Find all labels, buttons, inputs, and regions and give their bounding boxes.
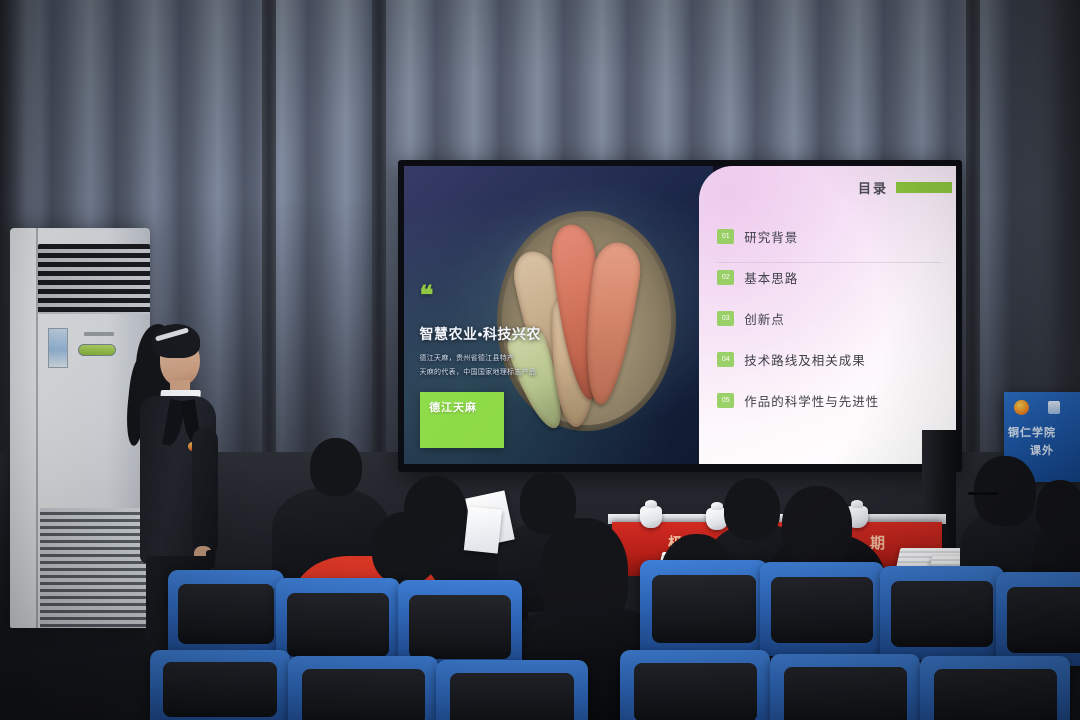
secondary-logo-icon bbox=[1048, 401, 1060, 414]
presenter-hair-front bbox=[152, 324, 200, 358]
toc-number-badge: 04 bbox=[717, 352, 734, 367]
toc-item-4: 04 技术路线及相关成果 bbox=[717, 341, 945, 377]
slide-photo-panel: ❝ 智慧农业•科技兴农 德江天麻，贵州省德江县特产 天麻的代表，中国国家地理标志… bbox=[404, 166, 713, 464]
toc-number-badge: 03 bbox=[717, 311, 734, 326]
audience-chair-front[interactable] bbox=[920, 656, 1070, 720]
audience-chair-front[interactable] bbox=[150, 650, 290, 720]
slide-heading: 智慧农业•科技兴农 bbox=[419, 324, 540, 344]
audience-chair-front[interactable] bbox=[620, 650, 770, 720]
university-emblem-icon bbox=[1014, 400, 1029, 415]
audience-head bbox=[974, 456, 1036, 526]
toc-number-badge: 01 bbox=[717, 229, 734, 244]
toc-item-label: 技术路线及相关成果 bbox=[744, 350, 866, 369]
toc-title: 目录 bbox=[858, 178, 888, 197]
ac-display-screen bbox=[78, 344, 116, 356]
audience-chair-front[interactable] bbox=[436, 660, 588, 720]
presentation-display: ❝ 智慧农业•科技兴农 德江天麻，贵州省德江县特产 天麻的代表，中国国家地理标志… bbox=[398, 160, 962, 472]
audience-chair[interactable] bbox=[640, 560, 768, 656]
handout-paper bbox=[464, 506, 502, 553]
toc-item-label: 基本思路 bbox=[744, 268, 798, 287]
audience-chair[interactable] bbox=[880, 566, 1004, 660]
audience-chair-front[interactable] bbox=[770, 654, 920, 720]
toc-item-1: 01 研究背景 bbox=[717, 218, 945, 254]
audience-head bbox=[782, 486, 852, 564]
toc-list: 01 研究背景 02 基本思路 03 创新点 04 技术路线及相关成果 bbox=[717, 218, 945, 423]
toc-item-label: 创新点 bbox=[744, 309, 785, 328]
audience-chair-front[interactable] bbox=[288, 656, 438, 720]
ac-energy-label bbox=[48, 328, 68, 368]
toc-item-5: 05 作品的科学性与先进性 bbox=[717, 382, 945, 418]
presenter-arm bbox=[192, 428, 218, 554]
slide-subtitle-line-2: 天麻的代表，中国国家地理标志产品 bbox=[419, 366, 536, 379]
toc-item-3: 03 创新点 bbox=[717, 300, 945, 336]
banner-text-line-2: 课外 bbox=[1030, 442, 1054, 458]
toc-header: 目录 bbox=[858, 178, 952, 197]
audience-chair[interactable] bbox=[996, 572, 1080, 666]
eyeglasses-icon bbox=[968, 492, 998, 495]
audience-chair[interactable] bbox=[168, 570, 284, 656]
slide-topic-tag: 德江天麻 bbox=[420, 392, 504, 448]
presentation-room-photo: ❝ 智慧农业•科技兴农 德江天麻，贵州省德江县特产 天麻的代表，中国国家地理标志… bbox=[0, 0, 1080, 720]
slide-screen: ❝ 智慧农业•科技兴农 德江天麻，贵州省德江县特产 天麻的代表，中国国家地理标志… bbox=[404, 166, 956, 464]
slide-subtitle-line-1: 德江天麻，贵州省德江县特产 bbox=[419, 352, 536, 365]
slide-topic-tag-label: 德江天麻 bbox=[429, 399, 477, 415]
quote-mark-icon: ❝ bbox=[419, 288, 433, 304]
toc-item-label: 作品的科学性与先进性 bbox=[744, 391, 879, 410]
toc-item-label: 研究背景 bbox=[744, 227, 798, 246]
toc-divider bbox=[717, 262, 940, 263]
audience-chair[interactable] bbox=[760, 562, 884, 656]
slide-toc-panel: 目录 01 研究背景 02 基本思路 03 创新点 bbox=[699, 166, 956, 464]
ac-brand-mark bbox=[84, 332, 114, 336]
audience-head bbox=[372, 512, 438, 584]
ac-top-vent-icon bbox=[38, 244, 150, 314]
bowl-of-gastrodia bbox=[497, 211, 676, 432]
audience-head bbox=[310, 438, 362, 496]
toc-item-2: 02 基本思路 bbox=[717, 259, 945, 295]
slide-subtitle: 德江天麻，贵州省德江县特产 天麻的代表，中国国家地理标志产品 bbox=[419, 352, 536, 379]
toc-number-badge: 02 bbox=[717, 270, 734, 285]
banner-text-line-1: 铜仁学院 bbox=[1008, 424, 1056, 440]
toc-accent-bar bbox=[896, 182, 952, 193]
toc-number-badge: 05 bbox=[717, 393, 734, 408]
audience-head bbox=[724, 478, 780, 540]
audience-head bbox=[1036, 480, 1080, 536]
teacup bbox=[640, 506, 662, 528]
